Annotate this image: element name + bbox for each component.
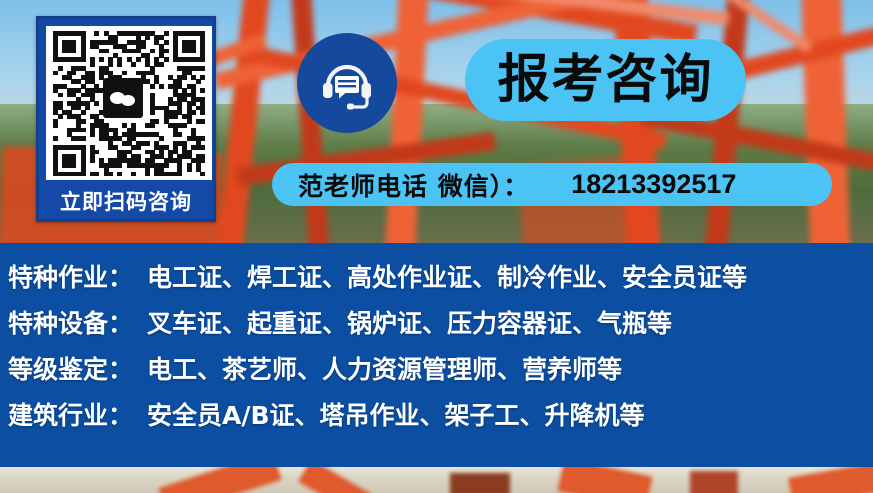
qr-code-image[interactable] bbox=[46, 26, 212, 180]
service-items: 电工证、焊工证、高处作业证、制冷作业、安全员证等 bbox=[147, 263, 747, 292]
service-label: 特种作业： bbox=[8, 263, 133, 292]
services-panel: 特种作业：电工证、焊工证、高处作业证、制冷作业、安全员证等 特种设备：叉车证、起… bbox=[0, 243, 873, 467]
headset-support-icon bbox=[297, 33, 397, 133]
title-pill: 报考咨询 bbox=[465, 39, 746, 121]
bottom-photo-strip bbox=[0, 467, 873, 493]
service-label: 建筑行业： bbox=[8, 401, 133, 430]
promo-poster: 立即扫码咨询 报考咨询 范老师电话 微信）： 18213392517 特种作业：… bbox=[0, 0, 873, 493]
title-text: 报考咨询 bbox=[497, 54, 713, 106]
service-row-construction-industry: 建筑行业：安全员A/B证、塔吊作业、架子工、升降机等 bbox=[8, 396, 645, 432]
service-items: 安全员A/B证、塔吊作业、架子工、升降机等 bbox=[147, 401, 645, 430]
phone-number[interactable]: 18213392517 bbox=[571, 169, 736, 200]
service-items: 叉车证、起重证、锅炉证、压力容器证、气瓶等 bbox=[147, 309, 672, 338]
service-row-special-equipment: 特种设备：叉车证、起重证、锅炉证、压力容器证、气瓶等 bbox=[8, 304, 672, 340]
wechat-icon bbox=[103, 78, 143, 118]
service-label: 等级鉴定： bbox=[8, 355, 133, 384]
service-row-special-operations: 特种作业：电工证、焊工证、高处作业证、制冷作业、安全员证等 bbox=[8, 258, 747, 294]
service-items: 电工、茶艺师、人力资源管理师、营养师等 bbox=[147, 355, 622, 384]
qr-card-label: 立即扫码咨询 bbox=[46, 180, 206, 222]
contact-label: 范老师电话 微信）： bbox=[298, 167, 529, 203]
contact-pill[interactable]: 范老师电话 微信）： 18213392517 bbox=[272, 163, 832, 206]
qr-code-card[interactable]: 立即扫码咨询 bbox=[36, 16, 216, 222]
service-label: 特种设备： bbox=[8, 309, 133, 338]
service-row-grade-assessment: 等级鉴定：电工、茶艺师、人力资源管理师、营养师等 bbox=[8, 350, 622, 386]
